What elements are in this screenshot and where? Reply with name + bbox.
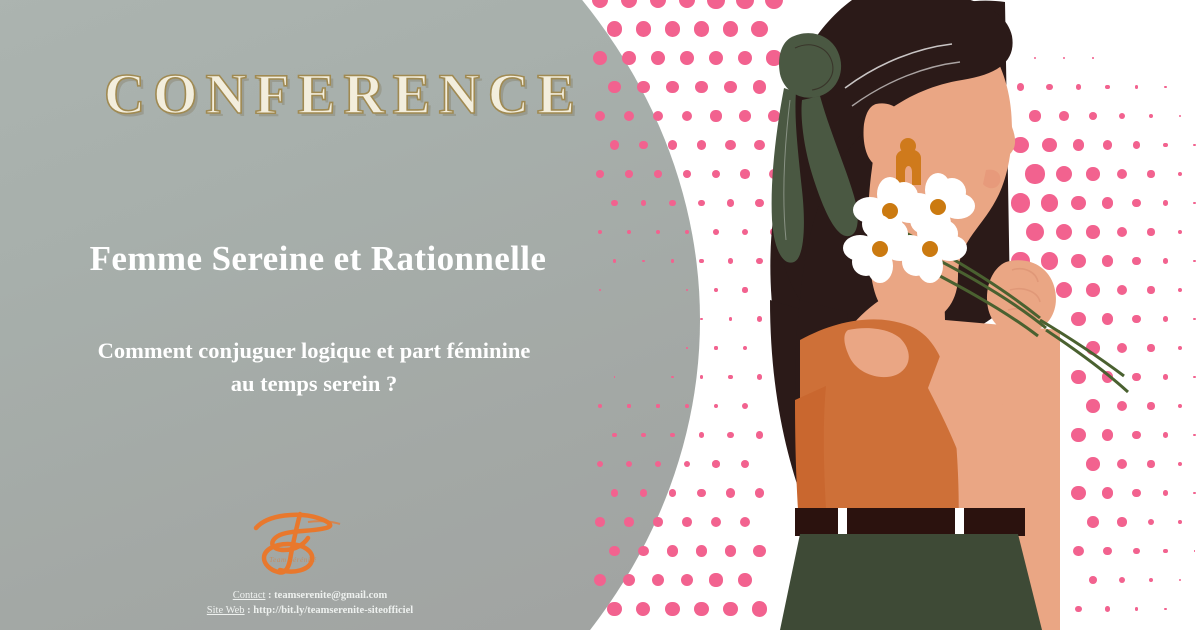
site-separator: : (245, 605, 254, 616)
tagline-line-2: au temps serein ? (14, 367, 614, 400)
tagline: Comment conjuguer logique et part fémini… (14, 334, 614, 400)
page-title: CONFERENCE (104, 62, 583, 127)
contact-label: Contact (233, 590, 266, 601)
contact-email[interactable]: teamserenite@gmail.com (274, 590, 387, 601)
site-label: Site Web (207, 605, 245, 616)
footer-contact-row: Contact : teamserenite@gmail.com (60, 588, 560, 603)
belt-gap-2 (955, 508, 964, 536)
brand-logo-icon (238, 500, 348, 580)
tagline-line-1: Comment conjuguer logique et part fémini… (14, 334, 614, 367)
conference-poster: CONFERENCE Femme Sereine et Rationnelle … (0, 0, 1200, 630)
headline: Femme Sereine et Rationnelle (18, 239, 618, 279)
scarf-knot (779, 33, 841, 98)
site-url[interactable]: http://bit.ly/teamserenite-siteofficiel (253, 605, 413, 616)
footer-site-row: Site Web : http://bit.ly/teamserenite-si… (60, 603, 560, 618)
belt (795, 508, 1025, 536)
logo-caption: Team Sérénité (238, 556, 348, 564)
belt-gap-1 (838, 508, 847, 536)
contact-separator: : (265, 590, 274, 601)
skirt (780, 534, 1042, 630)
footer-contact-block: Contact : teamserenite@gmail.com Site We… (60, 588, 560, 618)
